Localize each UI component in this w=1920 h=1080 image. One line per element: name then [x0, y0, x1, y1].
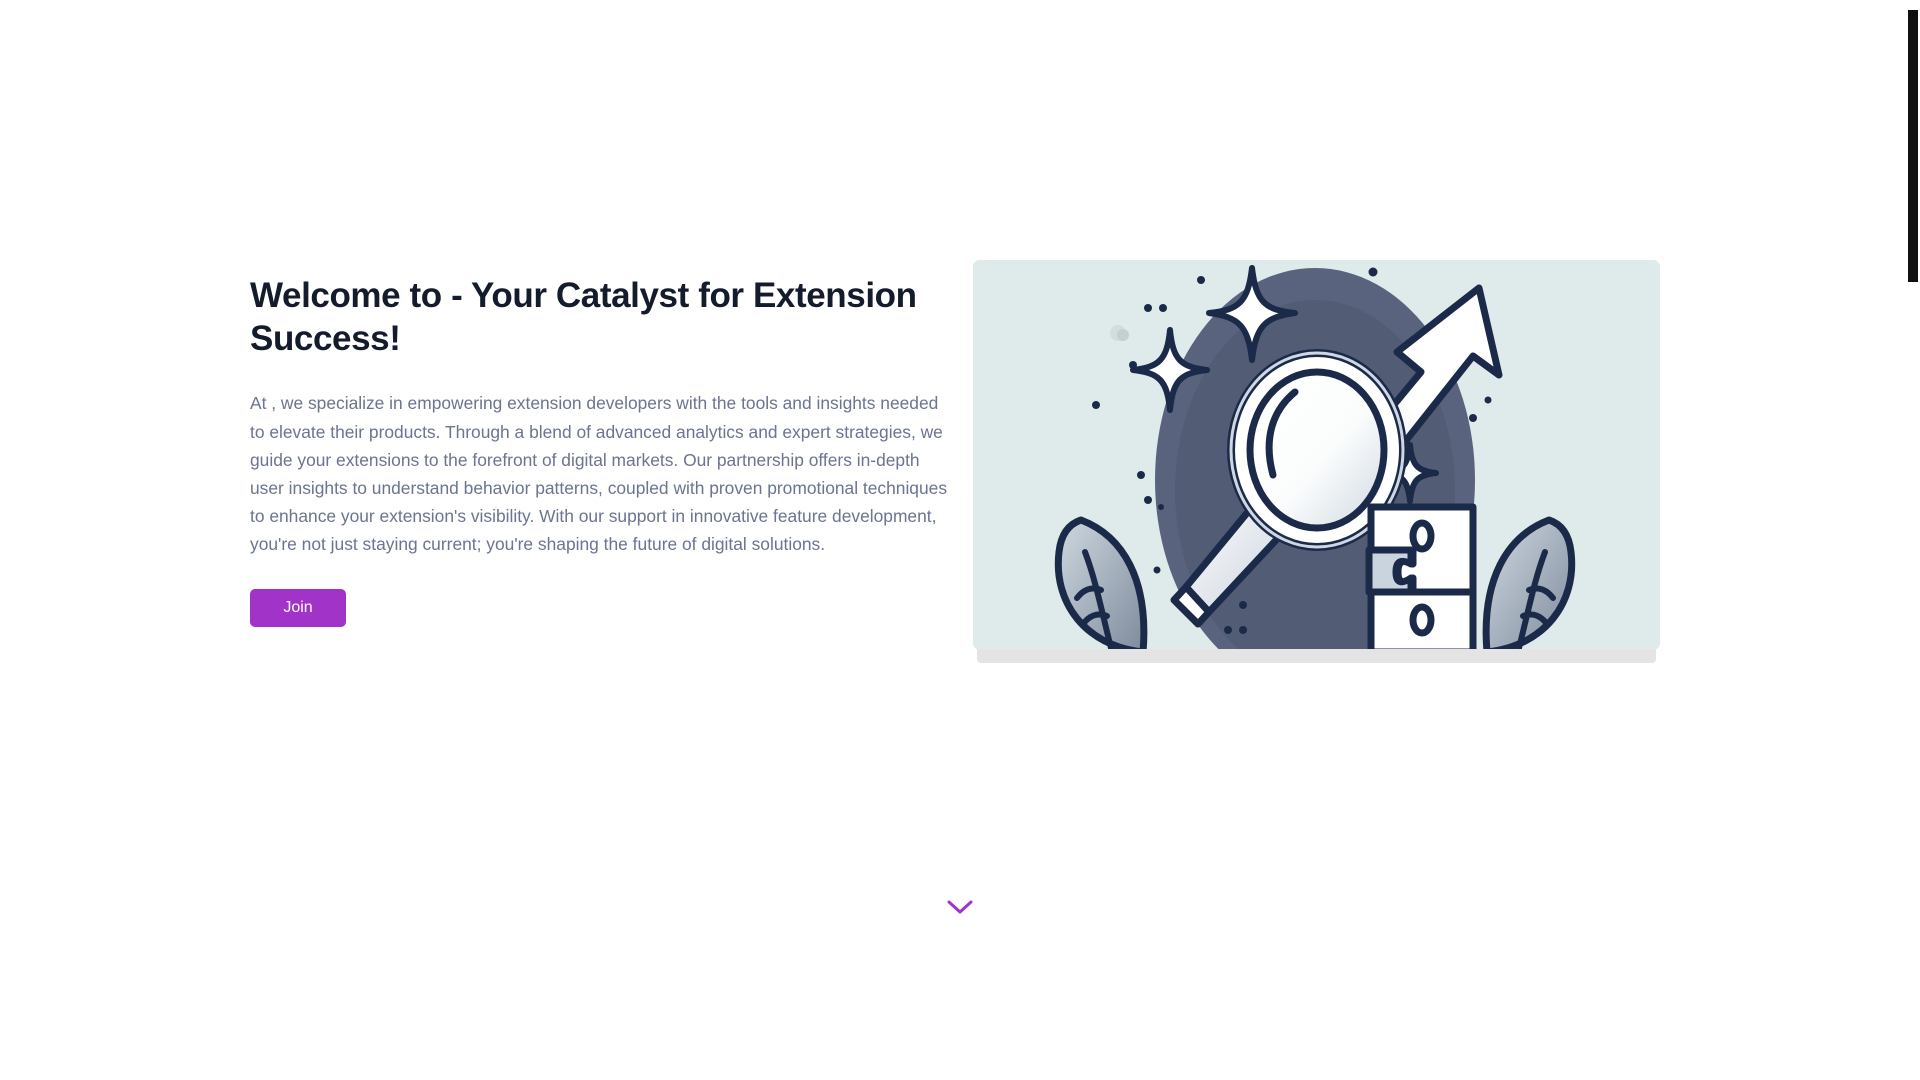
page-root: Welcome to - Your Catalyst for Extension… — [0, 0, 1920, 1080]
scrollbar-thumb[interactable] — [1908, 10, 1918, 282]
page-title: Welcome to - Your Catalyst for Extension… — [250, 275, 950, 360]
chevron-down-icon[interactable] — [946, 898, 974, 916]
illustration-shadow — [977, 649, 1656, 663]
hero-description: At , we specialize in empowering extensi… — [250, 389, 950, 558]
hero-section: Welcome to - Your Catalyst for Extension… — [250, 260, 1660, 650]
hero-text-column: Welcome to - Your Catalyst for Extension… — [250, 260, 950, 627]
join-button[interactable]: Join — [250, 589, 346, 627]
hero-media-column — [973, 260, 1660, 650]
hero-illustration — [973, 260, 1660, 650]
page-scrollbar[interactable] — [1904, 0, 1920, 1080]
